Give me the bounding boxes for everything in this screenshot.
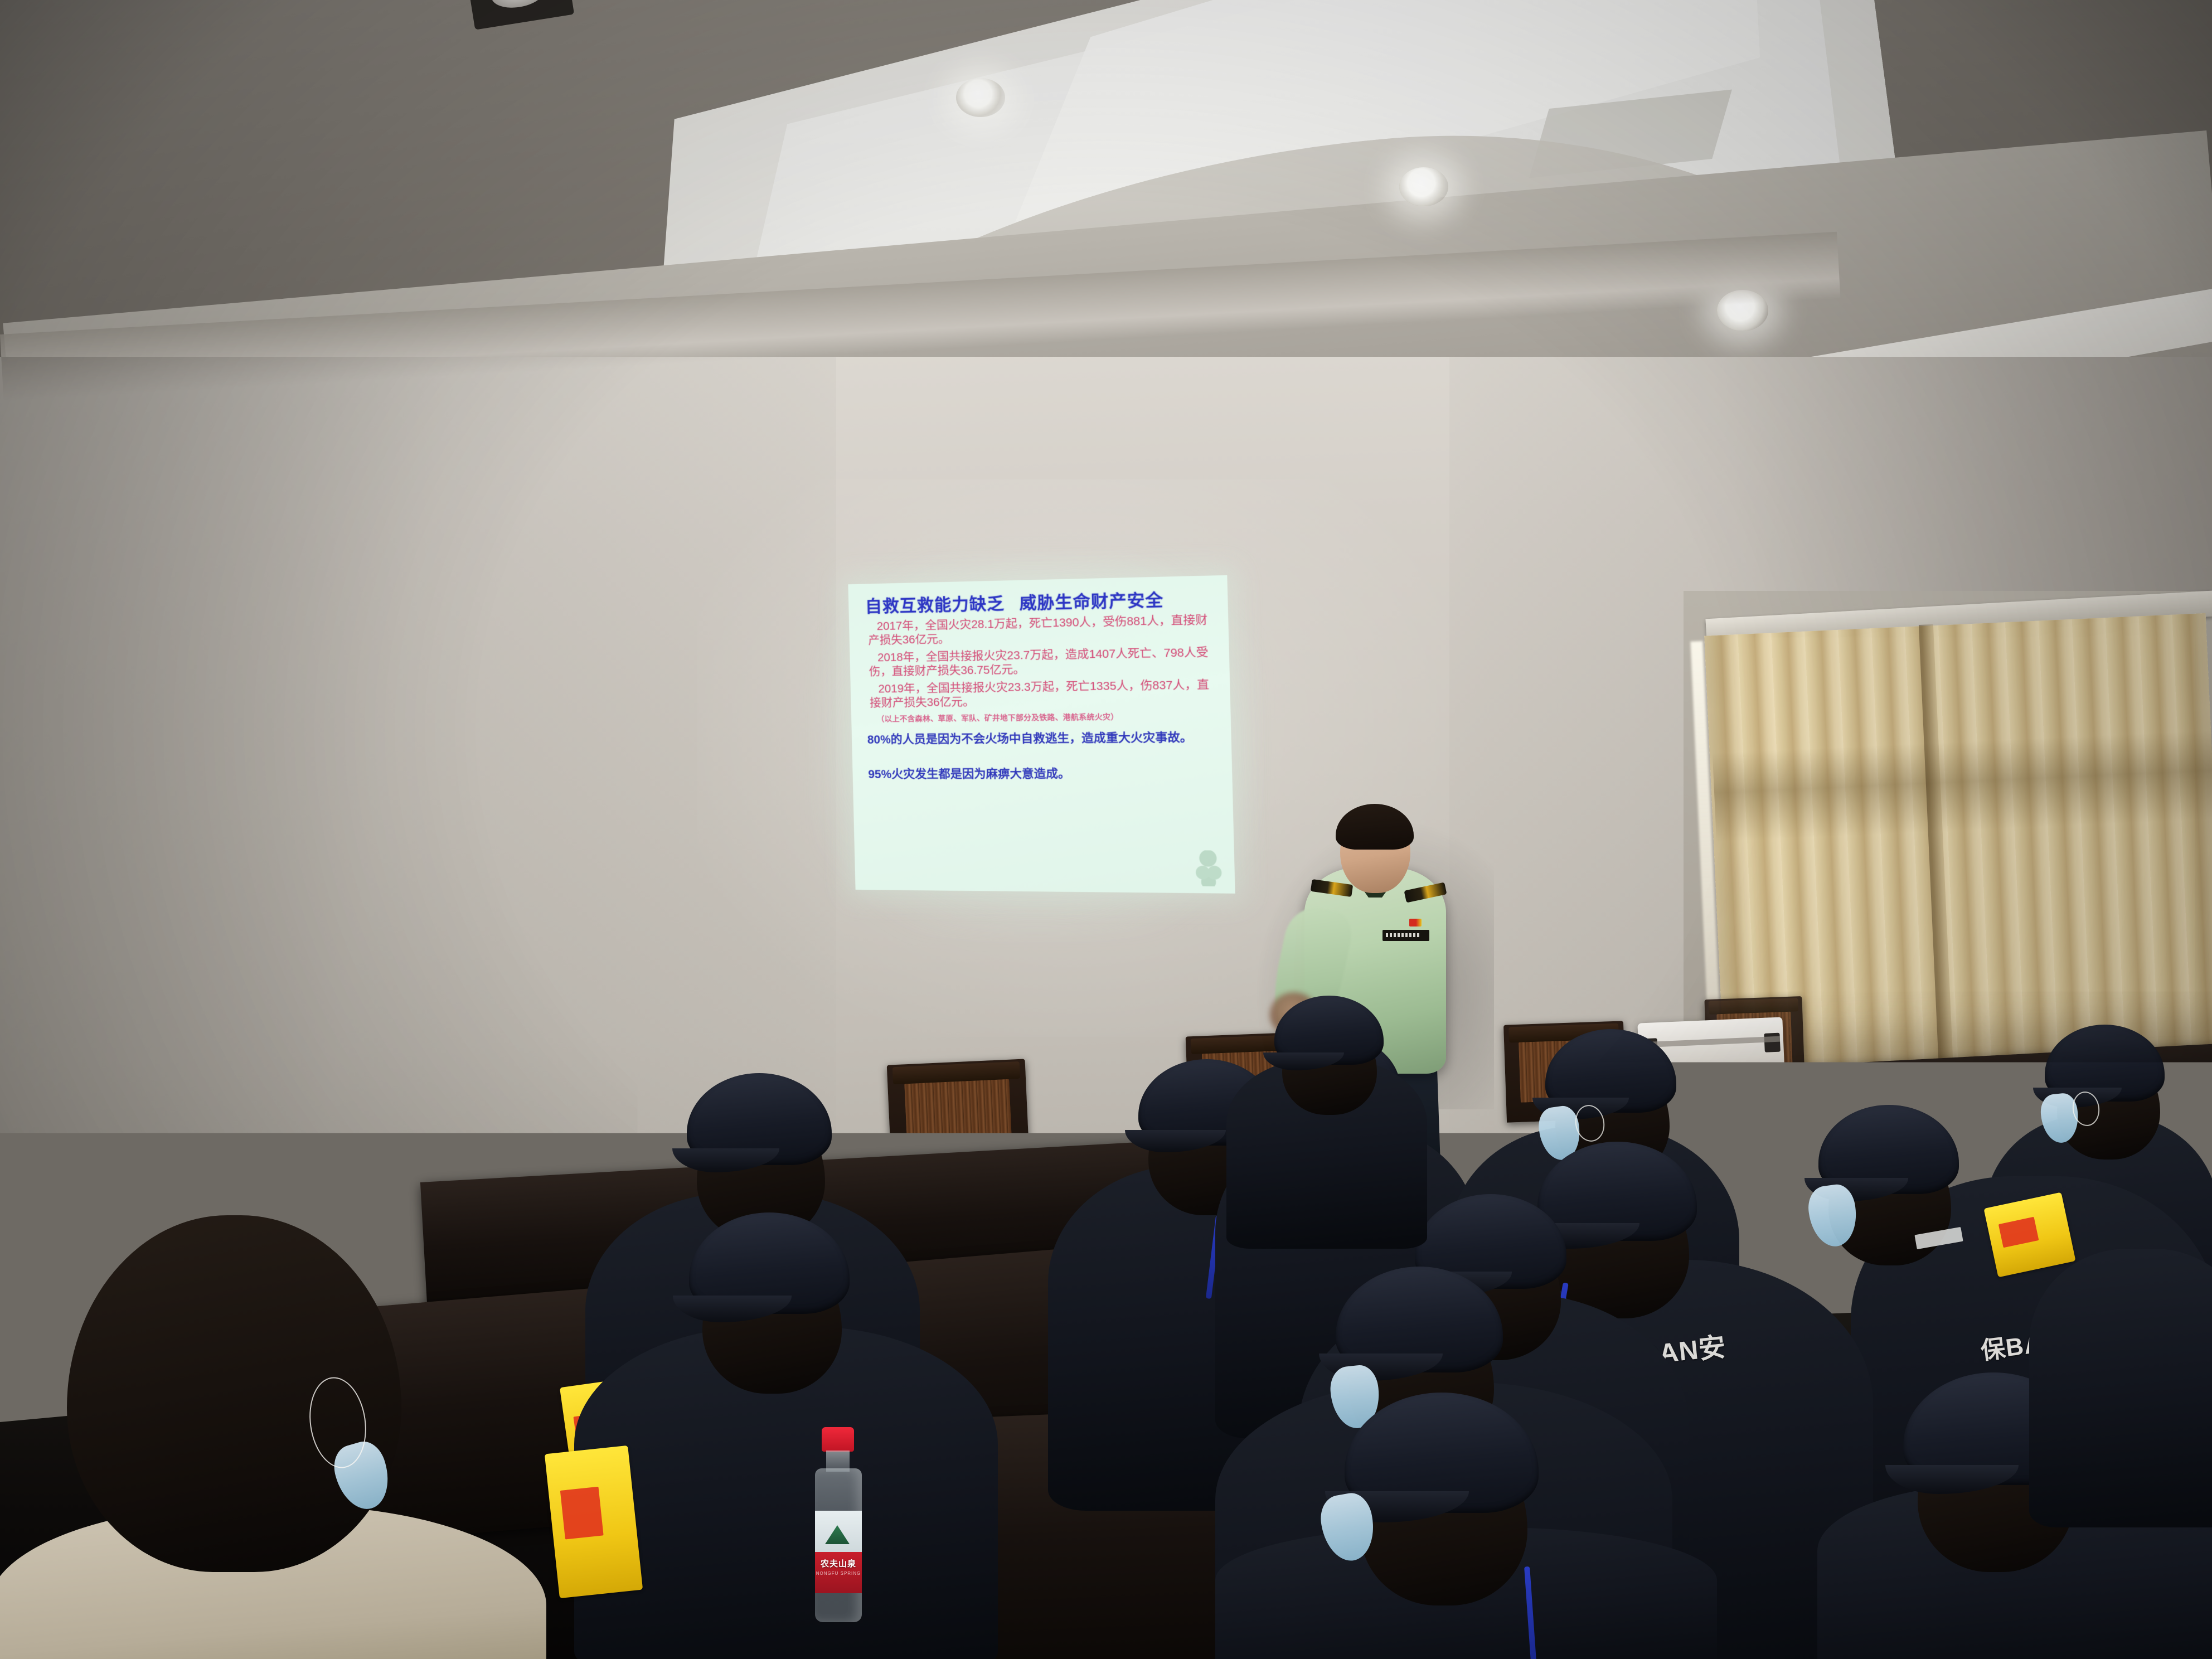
slide-highlight-95: 95%火灾发生都是因为麻痹大意造成。 xyxy=(868,767,1221,783)
slide-highlight-80: 80%的人员是因为不会火场中自救逃生，造成重大火灾事故。 xyxy=(867,730,1221,748)
slide-stat-2018: 2018年，全国共接报火灾23.7万起，造成1407人死亡、798人受伤，直接财… xyxy=(869,645,1219,679)
downlight-icon xyxy=(956,78,1005,117)
bottle-brand-cn: 农夫山泉 xyxy=(809,1558,867,1569)
training-room-photo: 自救互救能力缺乏威胁生命财产安全 2017年，全国火灾28.1万起，死亡1390… xyxy=(0,0,2212,1659)
slide-title: 自救互救能力缺乏威胁生命财产安全 xyxy=(865,590,1217,616)
slide-watermark-logo-icon xyxy=(1192,850,1224,886)
slide-stat-2019: 2019年，全国共接报火灾23.3万起，死亡1335人，伤837人，直接财产损失… xyxy=(869,677,1220,710)
slide-stat-2017: 2017年，全国火灾28.1万起，死亡1390人，受伤881人，直接财产损失36… xyxy=(868,613,1218,648)
projector-vent-icon xyxy=(1739,1153,1785,1180)
water-bottle[interactable]: 农夫山泉 NONGFU SPRING xyxy=(809,1427,867,1622)
bottle-cap-icon xyxy=(822,1427,854,1452)
bottle-brand-en: NONGFU SPRING xyxy=(809,1571,867,1576)
flag-pin-icon xyxy=(1409,919,1422,926)
slide-title-right: 威胁生命财产安全 xyxy=(1019,591,1163,613)
projected-slide: 自救互救能力缺乏威胁生命财产安全 2017年，全国火灾28.1万起，死亡1390… xyxy=(848,575,1235,894)
slide-footnote: （以上不含森林、草原、军队、矿井地下部分及铁路、港航系统火灾） xyxy=(877,712,1220,724)
downlight-icon xyxy=(1399,167,1448,206)
presenter-name-tag xyxy=(1382,930,1429,941)
slide-title-left: 自救互救能力缺乏 xyxy=(865,595,1005,617)
